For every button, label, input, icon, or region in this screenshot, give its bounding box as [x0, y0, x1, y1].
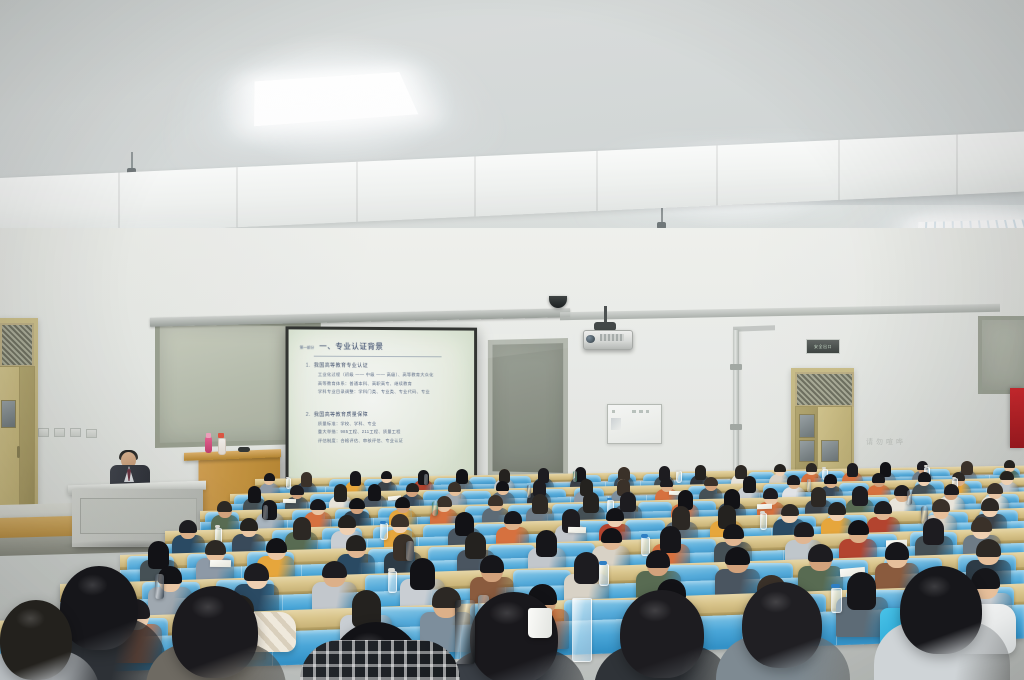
water-bottle — [760, 513, 768, 530]
foreground-person-hair-highlight — [918, 575, 951, 598]
audience-member-hair — [532, 494, 547, 514]
bottle-cap — [676, 470, 680, 472]
audience-member-hair — [781, 504, 799, 517]
audience-member-hair — [349, 498, 364, 509]
foreground-person-hair-highlight — [489, 601, 524, 625]
audience-member-hair — [1000, 471, 1013, 481]
audience-member-hair — [660, 526, 681, 553]
slide-title: 一、专业认证背景 — [319, 341, 383, 352]
thermos-flask — [424, 474, 428, 485]
audience-member-hair — [264, 473, 275, 481]
slide-section-1-line-3: 学科专业目录调整：学科门类、专业类、专业代码、专业 — [318, 389, 465, 395]
audience-member-hair — [301, 472, 312, 487]
door-left-transom — [0, 323, 34, 367]
slide-section-2-line-2: 重大举措：985工程、211工程、质量工程 — [318, 429, 465, 435]
bottle-cap — [388, 568, 396, 572]
wall-switch-plate-3[interactable] — [70, 428, 81, 437]
slide-section-2-line-3: 评估制度：合格评估、审核评估、专业认证 — [318, 437, 465, 443]
audience-member-hair — [240, 518, 258, 531]
audience-member-hair — [504, 511, 522, 524]
bottle-cap — [822, 467, 826, 469]
foreground-person-hair-highlight — [16, 608, 45, 629]
thermos-flask — [406, 541, 414, 562]
foreground-thermos — [455, 600, 475, 664]
notice-board-mark-1 — [612, 410, 615, 413]
pipe-clamp-1 — [730, 364, 742, 370]
audience-member-hair — [848, 520, 869, 535]
audience-member-hair — [852, 486, 867, 506]
podium-bottle-white — [218, 438, 226, 455]
pipe-clamp-2 — [730, 424, 742, 430]
audience-member-hair — [574, 552, 599, 584]
audience-member-hair — [725, 547, 750, 565]
thermos-flask — [432, 501, 438, 516]
audience-member-hair — [824, 474, 837, 484]
audience-member-hair — [179, 520, 197, 533]
audience-member-hair — [205, 540, 226, 555]
wall-switch-plate-2[interactable] — [54, 428, 65, 437]
chalkboard-far-right — [978, 316, 1024, 394]
chalkboard-right — [488, 338, 568, 478]
lecture-hall-photo: 第一部分 一、专业认证背景 1.我国高等教育专业认证 工业化过程（初级 —— 中… — [0, 0, 1024, 680]
audience-member-hair — [465, 532, 486, 559]
door-right-vision-panel-a — [799, 414, 815, 438]
audience-member-hair — [704, 477, 717, 487]
water-bottle — [831, 588, 842, 614]
thermos-flask — [155, 574, 164, 599]
bottle-cap — [641, 534, 648, 537]
audience-member-hair — [774, 464, 785, 472]
audience-member-hair — [787, 475, 800, 485]
ceiling-light-glow-1 — [210, 30, 460, 170]
foreground-person-hair-highlight — [638, 599, 672, 622]
thermos-flask — [573, 471, 577, 482]
paper-handout — [209, 560, 230, 567]
podium-bottle-pink — [205, 437, 212, 453]
slide-section-1-line-2: 高等教育体系：普通本科、高职高专、继续教育 — [318, 380, 465, 386]
slide-section-1-line-1: 工业化过程（初级 —— 中级 —— 高级）、高等教育大众化 — [318, 372, 465, 378]
paper-handout — [568, 527, 586, 533]
audience-member-hair — [847, 572, 876, 610]
wall-text-right: 请勿喧哗 — [866, 437, 906, 447]
audience-member-hair — [536, 530, 557, 557]
foreground-person-hair-highlight — [760, 591, 792, 613]
audience-member-hair — [723, 524, 744, 539]
notice-board-mark-3 — [639, 410, 643, 413]
audience-member-hair — [923, 518, 944, 545]
audience-member-hair — [496, 481, 509, 491]
thermos-flask — [263, 505, 269, 520]
audience-member-hair — [244, 563, 269, 581]
audience-member-hair — [391, 514, 409, 527]
audience-member-hair — [828, 502, 846, 515]
exit-sign-text: 安全出口 — [814, 344, 832, 350]
audience-member-hair — [350, 471, 361, 486]
audience-member-hair — [794, 522, 815, 537]
bottle-cap — [952, 477, 956, 479]
audience-member-hair — [811, 487, 826, 507]
projector-vent — [600, 334, 624, 341]
door-right-vision-panel-c — [821, 440, 839, 462]
audience-member-hair — [266, 538, 287, 553]
microphone-icon — [238, 447, 250, 452]
thermos-flask — [907, 490, 913, 505]
audience-member-hair — [480, 555, 505, 573]
podium-bottle-white-cap — [218, 433, 224, 438]
audience-member-hair — [872, 473, 885, 483]
notice-board-mark-2 — [632, 410, 636, 413]
thermos-flask — [527, 485, 532, 498]
audience-member-hair — [874, 501, 892, 514]
audience-member-hair — [406, 483, 419, 493]
audience-member-hair — [395, 497, 410, 508]
audience-member-hair — [583, 492, 598, 512]
door-left-handle[interactable] — [17, 446, 20, 458]
slide-section-2-line-1: 质量标准：学校、学科、专业 — [318, 420, 465, 426]
water-bottle — [599, 564, 609, 586]
water-bottle — [388, 571, 398, 593]
thermos-flask — [807, 479, 812, 492]
audience-member-hair — [310, 499, 325, 510]
projector-lens-icon — [586, 335, 595, 343]
bottle-cap — [760, 511, 766, 514]
paper-handout — [757, 503, 772, 508]
audience-member-hair — [248, 486, 261, 503]
audience-member-hair — [410, 558, 435, 590]
wall-switch-plate-1[interactable] — [38, 428, 49, 437]
door-left-vision-panel — [1, 400, 16, 428]
audience-member-hair — [148, 541, 169, 568]
slide-section-2-heading: 2.我国高等教育质量保障 — [306, 410, 466, 417]
water-bottle — [380, 523, 388, 540]
foreground-cup — [528, 608, 552, 638]
bottle-cap — [831, 584, 840, 589]
audience-member-hair — [944, 484, 959, 495]
audience-member-hair — [293, 517, 311, 540]
audience-member-hair — [918, 472, 931, 482]
foreground-water-bottle — [572, 598, 592, 662]
slide-header-tag: 第一部分 — [300, 346, 315, 351]
audience-member-hair — [381, 471, 392, 479]
audience-member-hair — [763, 488, 778, 499]
audience-member-hair — [1004, 460, 1015, 468]
notice-board-mark-4 — [646, 410, 649, 413]
audience-member-hair — [338, 515, 356, 528]
audience-member-hair — [932, 499, 950, 512]
podium-bottle-pink-cap — [206, 433, 211, 438]
bottle-cap — [607, 498, 612, 500]
audience-member-hair — [437, 496, 452, 507]
plaid-shirt — [300, 640, 460, 680]
audience-member-hair — [808, 544, 833, 562]
audience-member-hair — [695, 465, 706, 480]
red-banner — [1010, 388, 1024, 448]
audience-member-hair — [448, 482, 461, 492]
slide-section-1-heading: 1.我国高等教育专业认证 — [306, 362, 466, 370]
notice-board-scribble — [611, 418, 621, 430]
audience-member-hair — [346, 535, 367, 550]
audience-member-hair — [743, 476, 756, 493]
wall-switch-plate-4[interactable] — [86, 429, 97, 438]
door-right-transom — [795, 372, 854, 407]
audience-member-hair — [976, 539, 1001, 557]
bottle-cap — [599, 561, 607, 565]
audience-member-hair — [606, 508, 624, 521]
bottle-cap — [380, 521, 386, 524]
audience-member-hair — [981, 498, 999, 511]
audience-member-hair — [290, 485, 303, 495]
audience-member-hair — [334, 484, 347, 501]
audience-member-hair — [806, 463, 817, 471]
slide-divider — [314, 356, 442, 358]
audience-member-hair — [620, 492, 635, 512]
audience-member-hair — [847, 463, 858, 478]
audience-member-hair — [368, 484, 381, 501]
slide-title-row: 第一部分 一、专业认证背景 — [300, 341, 466, 353]
water-bottle — [676, 471, 682, 482]
paper-handout — [283, 499, 296, 503]
audience-member-hair — [217, 501, 232, 512]
audience-member-hair — [987, 483, 1002, 494]
door-right-vision-panel-b — [799, 440, 815, 462]
audience-member-hair — [601, 528, 622, 543]
audience-member-hair — [456, 469, 467, 484]
exit-sign: 安全出口 — [806, 339, 840, 354]
